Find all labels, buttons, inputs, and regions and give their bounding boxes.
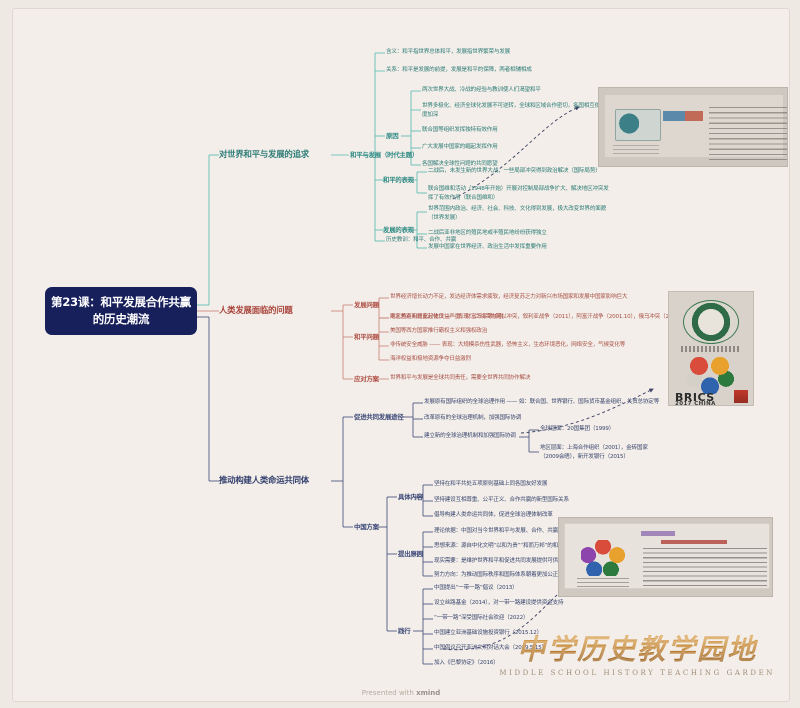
- branch-human-problems[interactable]: 人类发展面临的问题: [219, 305, 293, 316]
- leaf-regional-level-sco-brics[interactable]: 地区层面：上海合作组织（2001），金砖国家（2009会晤），新开发银行（201…: [540, 444, 655, 461]
- brics-year-host: 2017 CHINA: [675, 401, 716, 406]
- leaf-reason-common-will[interactable]: 各国解决全球性问题的共同愿望: [422, 161, 498, 168]
- community-ring-icon: [581, 540, 625, 576]
- footer-credit: Presented with xmind: [13, 689, 789, 697]
- leaf-nontraditional-security[interactable]: 非传统安全威胁 —— 表现：大规模杀伤性武器，恐怖主义，生态环境恶化，网络安全，…: [390, 342, 625, 349]
- leaf-decolonization[interactable]: 二战后亚非地区的殖民地或半殖民地纷纷获得独立: [428, 230, 547, 237]
- leaf-developing-role[interactable]: 发展中国家在世界经济、政治生活中发挥重要作用: [428, 244, 547, 251]
- topic-reasons[interactable]: 原因: [386, 132, 398, 140]
- leaf-new-intl-relations[interactable]: 坚持建设互相尊重、公平正义、合作共赢的新型国际关系: [434, 497, 569, 504]
- topic-reason-proposed[interactable]: 提出原因: [398, 550, 423, 558]
- leaf-reason-globalization[interactable]: 世界多极化、经济全球化发展不可逆转，全球和区域合作密切，各国相互依赖程度加深: [422, 102, 612, 119]
- leaf-global-progress[interactable]: 世界范围内政治、经济、社会、科技、文化得到发展，极大改变世界的面貌（世界发展）: [428, 205, 613, 222]
- rio20-page: [605, 95, 783, 157]
- brics-flower-icon: [685, 356, 735, 394]
- leaf-reason-developing-nations[interactable]: 广大发展中国家的崛起发挥作用: [422, 144, 498, 151]
- topic-china-plan[interactable]: 中国方案: [354, 523, 379, 531]
- leaf-historical-lesson[interactable]: 历史教训：和平、合作、共赢: [386, 237, 456, 244]
- topic-practice[interactable]: 践行: [398, 627, 410, 635]
- leaf-maritime-polar-resources[interactable]: 海洋权益和极地资源争夺日益激烈: [390, 356, 471, 363]
- leaf-reason-un[interactable]: 联合国等组织发挥独特有效作用: [422, 127, 498, 134]
- footer-brand: xmind: [416, 689, 440, 697]
- watermark: 中学历史教学园地 MIDDLE SCHOOL HISTORY TEACHING …: [499, 628, 775, 677]
- leaf-silk-road-fund-2014[interactable]: 设立丝路基金（2014），对一带一路建设提供资金支持: [434, 600, 563, 607]
- topic-development-problem[interactable]: 发展问题: [354, 301, 379, 309]
- topic-peace-problem[interactable]: 和平问题: [354, 333, 379, 341]
- leaf-global-level-g20[interactable]: 全球层面：20国集团（1999）: [540, 426, 614, 433]
- community-body-text-lines: [643, 548, 767, 588]
- watermark-en: MIDDLE SCHOOL HISTORY TEACHING GARDEN: [499, 669, 775, 677]
- brics-cn-badge: [734, 390, 748, 403]
- leaf-reform-governance[interactable]: 改革原有的全球治理机制，加强国际协调: [424, 415, 521, 422]
- watermark-cn: 中学历史教学园地: [499, 628, 775, 668]
- topic-specific-content[interactable]: 具体内容: [398, 493, 423, 501]
- leaf-no-world-war[interactable]: 二战后，未发生新的世界大战，一些局部冲突得到政治解决（国际局势）: [428, 168, 601, 175]
- leaf-hegemonism[interactable]: 美国等西方国家推行霸权主义和强权政治: [390, 328, 487, 335]
- footer-prefix: Presented with: [362, 689, 416, 697]
- leaf-five-principles[interactable]: 坚持在和平共处五项原则基础上同各国友好发展: [434, 481, 547, 488]
- topic-development-manifestation[interactable]: 发展的表现: [383, 226, 414, 234]
- leaf-bri-welcomed-2022[interactable]: “一带一路”深受国际社会欢迎（2022）: [434, 615, 528, 622]
- rio20-caption-lines: [613, 145, 659, 157]
- leaf-existing-orgs[interactable]: 发展原有国际组织的全球治理作用 —— 如：联合国、世界银行、国际货币基金组织、关…: [424, 399, 659, 406]
- rio20-logo-icon: [615, 109, 661, 141]
- leaf-belt-and-road-2013[interactable]: 中国提出“一带一路”倡议（2013）: [434, 585, 518, 592]
- mindmap-canvas: 第23课：和平发展合作共赢的历史潮流 对世界和平与发展的追求 和平与发展（时代主…: [12, 8, 790, 702]
- image-rio20-textbook[interactable]: [598, 87, 788, 167]
- leaf-new-governance[interactable]: 建立新的全球治理机制和加强国际协调: [424, 433, 516, 440]
- sco-emblem-icon: [683, 300, 739, 344]
- rio20-body-text-lines: [709, 107, 787, 161]
- image-brics-poster[interactable]: BRICS 2017 CHINA: [668, 291, 754, 406]
- topic-peace-manifestation[interactable]: 和平的表现: [383, 176, 414, 184]
- leaf-weak-growth[interactable]: 世界经济增长动力不足，发达经济体需求疲软，经济复苏乏力对新兴市场国家和发展中国家…: [390, 294, 627, 301]
- leaf-shared-responsibility[interactable]: 世界和平与发展是全球共同责任，需要全世界共同协作解决: [390, 375, 530, 382]
- sco-caption-lines: [681, 346, 739, 352]
- topic-common-development-path[interactable]: 促进共同发展途径: [354, 413, 404, 421]
- community-section-heading: [661, 540, 727, 544]
- leaf-community-shared-future[interactable]: 倡导构建人类命运共同体，促进全球治理体制改革: [434, 512, 553, 519]
- branch-shared-future[interactable]: 推动构建人类命运共同体: [219, 475, 309, 486]
- central-topic[interactable]: 第23课：和平发展合作共赢的历史潮流: [45, 287, 197, 335]
- leaf-paris-agreement-2016[interactable]: 加入《巴黎协定》（2016）: [434, 660, 499, 667]
- image-community-textbook[interactable]: [558, 517, 773, 597]
- topic-theme-of-era[interactable]: 和平与发展（时代主题）: [350, 151, 418, 159]
- community-caption-lines: [577, 578, 629, 587]
- community-page: [564, 523, 770, 589]
- leaf-un-peacekeeping[interactable]: 联合国维和活动（1948年开始）开展对控制局部战争扩大、解决地区冲突发挥了有效作…: [428, 185, 613, 202]
- rio20-wordmark: [663, 111, 703, 121]
- leaf-meaning[interactable]: 含义：和平指世界总体和平，发展指世界繁荣与发展: [386, 49, 510, 56]
- leaf-hotspot-conflicts[interactable]: 地区热点问题此起彼伏 —— 表现：二战后的阿以冲突，叙利亚战争（2011），阿富…: [390, 314, 684, 321]
- community-tag-heading: [641, 531, 675, 536]
- branch-peace-development[interactable]: 对世界和平与发展的追求: [219, 149, 309, 160]
- topic-solution[interactable]: 应对方案: [354, 375, 379, 383]
- leaf-relationship[interactable]: 关系：和平是发展的前提，发展是和平的保障，两者相辅相成: [386, 67, 532, 74]
- leaf-reason-wars[interactable]: 两次世界大战、冷战的经验与教训使人们渴望和平: [422, 87, 541, 94]
